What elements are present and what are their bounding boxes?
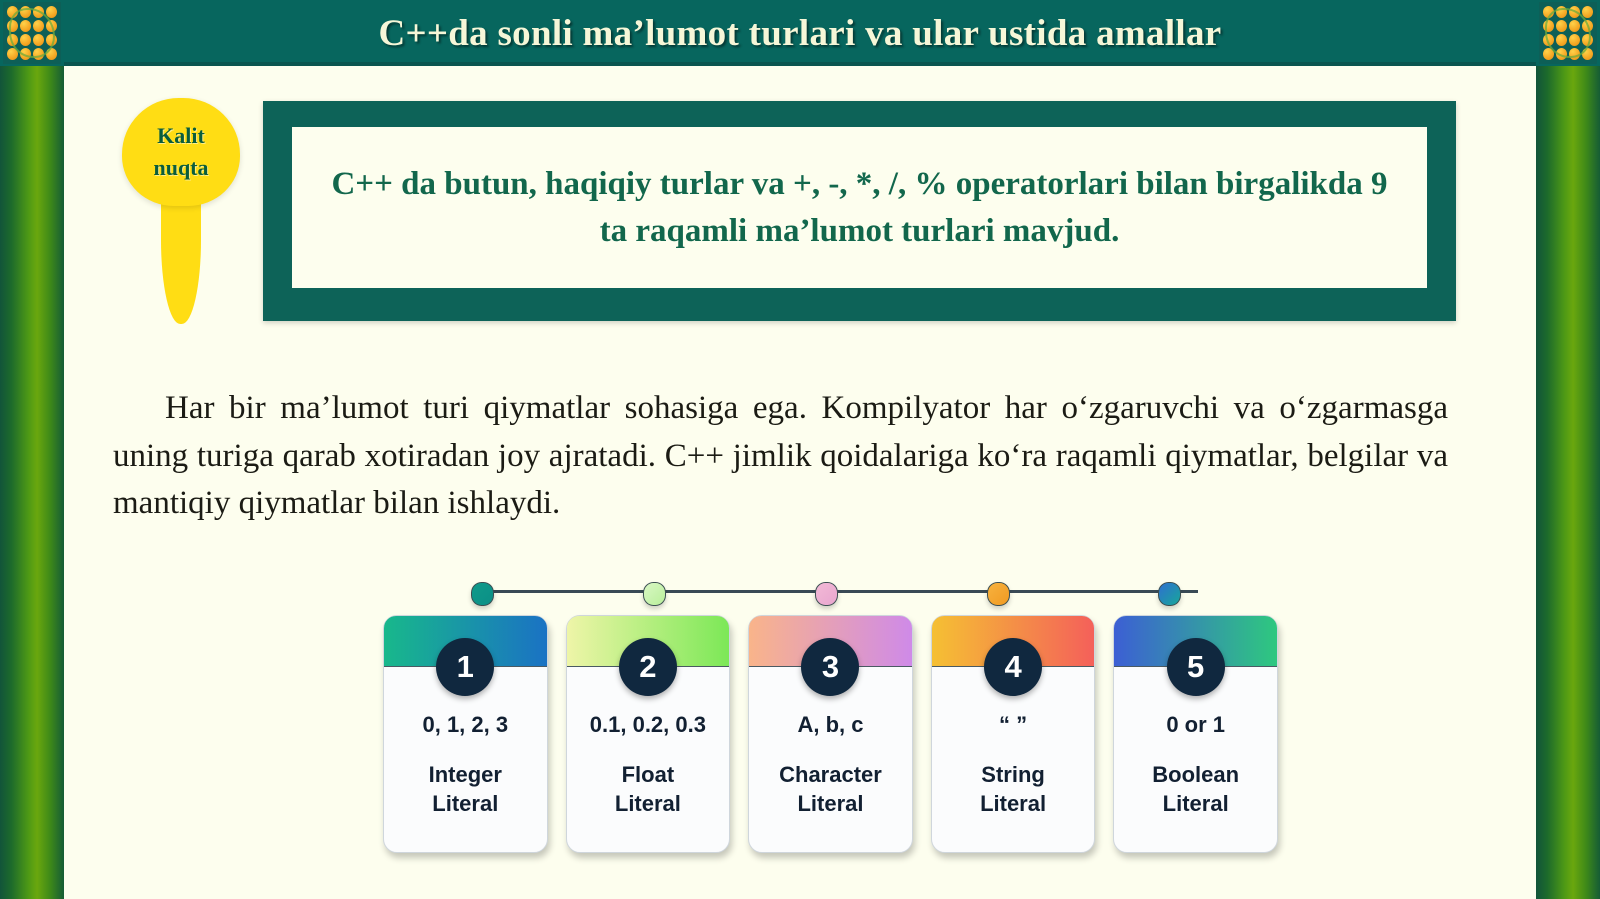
- literal-card[interactable]: 4 “ ” String Literal: [931, 615, 1096, 853]
- key-point-label-line1: Kalit: [122, 120, 240, 152]
- key-point-badge: Kalit nuqta: [122, 98, 240, 324]
- card-type-name-line1: Float: [571, 761, 726, 790]
- literal-card-list: 1 0, 1, 2, 3 Integer Literal 2 0.1, 0.2,…: [383, 615, 1278, 853]
- key-point-label-line2: nuqta: [122, 152, 240, 184]
- ornament-left-icon: [3, 2, 61, 64]
- callout-inner: C++ da butun, haqiqiy turlar va +, -, *,…: [292, 127, 1427, 288]
- card-type-name-line1: Integer: [388, 761, 543, 790]
- literals-infographic: 1 0, 1, 2, 3 Integer Literal 2 0.1, 0.2,…: [383, 560, 1278, 860]
- card-type-name-line2: Literal: [936, 790, 1091, 819]
- card-number-badge: 5: [1167, 638, 1225, 696]
- card-number-badge: 3: [801, 638, 859, 696]
- timeline-dot-5: [1158, 582, 1181, 606]
- page-title: C++da sonli ma’lumot turlari va ular ust…: [64, 0, 1536, 66]
- right-decorative-column: [1536, 0, 1600, 899]
- card-type-name-line1: String: [936, 761, 1091, 790]
- card-example-value: 0 or 1: [1118, 712, 1273, 738]
- literal-card[interactable]: 3 A, b, c Character Literal: [748, 615, 913, 853]
- card-example-value: 0.1, 0.2, 0.3: [571, 712, 726, 738]
- timeline-dot-2: [643, 582, 666, 606]
- card-type-name-line1: Boolean: [1118, 761, 1273, 790]
- card-type-name: String Literal: [936, 761, 1091, 818]
- card-example-value: 0, 1, 2, 3: [388, 712, 543, 738]
- callout-box: C++ da butun, haqiqiy turlar va +, -, *,…: [263, 101, 1456, 321]
- card-number-badge: 4: [984, 638, 1042, 696]
- card-example-value: “ ”: [936, 712, 1091, 738]
- literal-card[interactable]: 5 0 or 1 Boolean Literal: [1113, 615, 1278, 853]
- timeline: [383, 560, 1278, 610]
- body-paragraph: Har bir ma’lumot turi qiymatlar sohasiga…: [113, 385, 1448, 528]
- literal-card[interactable]: 2 0.1, 0.2, 0.3 Float Literal: [566, 615, 731, 853]
- timeline-dot-3: [815, 582, 838, 606]
- card-type-name: Boolean Literal: [1118, 761, 1273, 818]
- slide-canvas: C++da sonli ma’lumot turlari va ular ust…: [0, 0, 1600, 899]
- timeline-dot-1: [471, 582, 494, 606]
- card-type-name-line2: Literal: [1118, 790, 1273, 819]
- timeline-dot-4: [987, 582, 1010, 606]
- card-type-name-line2: Literal: [753, 790, 908, 819]
- card-example-value: A, b, c: [753, 712, 908, 738]
- card-type-name-line1: Character: [753, 761, 908, 790]
- ornament-right-icon: [1539, 2, 1597, 64]
- card-type-name-line2: Literal: [571, 790, 726, 819]
- card-number-badge: 2: [619, 638, 677, 696]
- key-point-label: Kalit nuqta: [122, 120, 240, 184]
- left-decorative-column: [0, 0, 64, 899]
- card-type-name: Character Literal: [753, 761, 908, 818]
- card-type-name-line2: Literal: [388, 790, 543, 819]
- card-type-name: Float Literal: [571, 761, 726, 818]
- literal-card[interactable]: 1 0, 1, 2, 3 Integer Literal: [383, 615, 548, 853]
- callout-text: C++ da butun, haqiqiy turlar va +, -, *,…: [318, 161, 1401, 255]
- card-number-badge: 1: [436, 638, 494, 696]
- card-type-name: Integer Literal: [388, 761, 543, 818]
